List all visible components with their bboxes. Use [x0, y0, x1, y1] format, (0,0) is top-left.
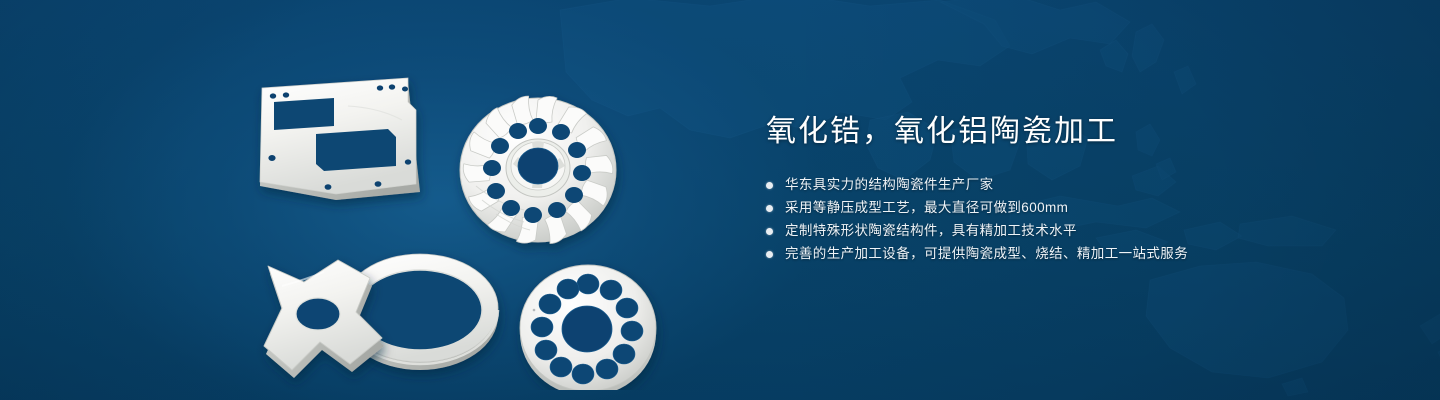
banner-copy: 氧化锆，氧化铝陶瓷加工 华东具实力的结构陶瓷件生产厂家 采用等静压成型工艺，最大…	[766, 112, 1406, 266]
page-title: 氧化锆，氧化铝陶瓷加工	[766, 112, 1406, 152]
feature-text: 华东具实力的结构陶瓷件生产厂家	[785, 174, 994, 196]
feature-list: 华东具实力的结构陶瓷件生产厂家 采用等静压成型工艺，最大直径可做到600mm 定…	[766, 174, 1406, 265]
list-item: 完善的生产加工设备，可提供陶瓷成型、烧结、精加工一站式服务	[766, 243, 1406, 265]
ceramic-plate-part	[260, 78, 420, 200]
feature-text: 完善的生产加工设备，可提供陶瓷成型、烧结、精加工一站式服务	[785, 243, 1188, 265]
feature-text: 定制特殊形状陶瓷结构件，具有精加工技术水平	[785, 220, 1077, 242]
list-item: 采用等静压成型工艺，最大直径可做到600mm	[766, 197, 1406, 219]
list-item: 华东具实力的结构陶瓷件生产厂家	[766, 174, 1406, 196]
feature-text: 采用等静压成型工艺，最大直径可做到600mm	[785, 197, 1068, 219]
bullet-dot-icon	[766, 228, 773, 235]
ceramic-impeller-part	[460, 95, 616, 245]
list-item: 定制特殊形状陶瓷结构件，具有精加工技术水平	[766, 220, 1406, 242]
product-photo-ceramic-parts	[240, 38, 690, 390]
bullet-dot-icon	[766, 251, 773, 258]
bullet-dot-icon	[766, 205, 773, 212]
ceramic-hole-disc-part	[520, 265, 656, 390]
bullet-dot-icon	[766, 182, 773, 189]
hero-banner: 氧化锆，氧化铝陶瓷加工 华东具实力的结构陶瓷件生产厂家 采用等静压成型工艺，最大…	[0, 0, 1440, 400]
